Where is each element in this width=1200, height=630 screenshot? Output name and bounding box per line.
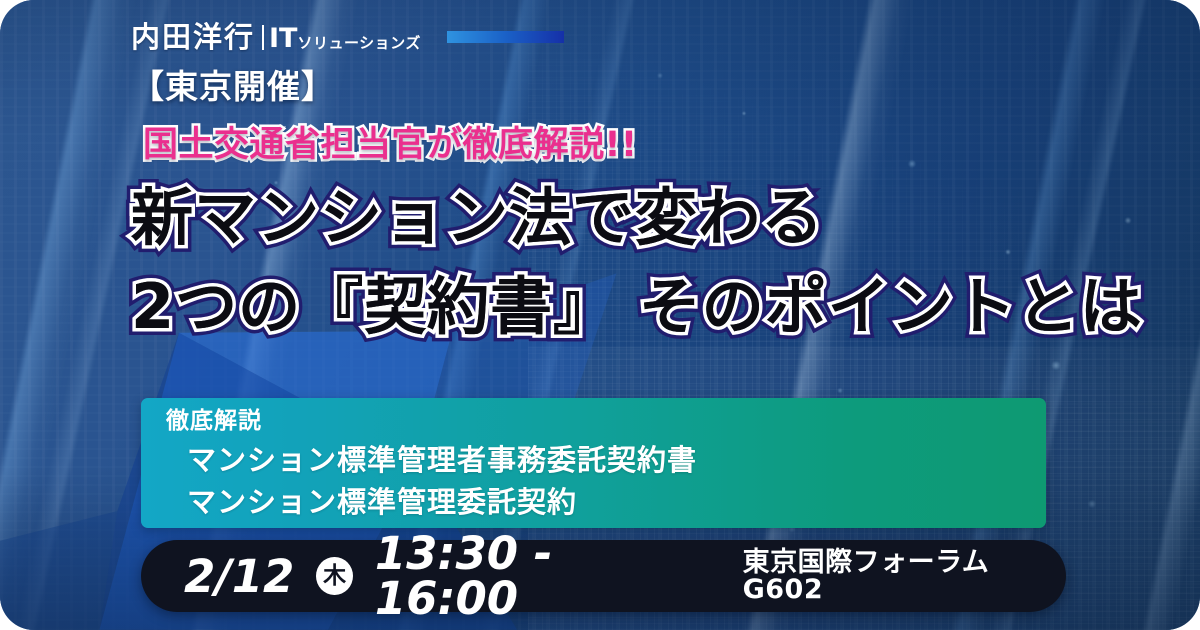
day-of-week-badge: 木 (316, 557, 352, 595)
event-time: 13:30 - 16:00 (375, 531, 698, 621)
logo-gradient-bar (447, 31, 564, 43)
title-line-2: 2つの『契約書』 そのポイントとは 2つの『契約書』 そのポイントとは 2つの『… (131, 274, 1091, 341)
topics-heading: 徹底解説 (166, 410, 262, 433)
eyebrow-location-label: 【東京開催】 (131, 70, 335, 103)
title-line-1-fill: 新マンション法で変わる (131, 185, 824, 252)
logo-wordmark: 内田洋行 IT ソリューションズ (131, 22, 421, 52)
logo-divider-icon (262, 25, 264, 50)
event-banner: 内田洋行 IT ソリューションズ 【東京開催】 国土交通省担当官が徹底解説!! … (0, 0, 1200, 630)
title-line-1: 新マンション法で変わる 新マンション法で変わる 新マンション法で変わる (131, 185, 1091, 252)
event-venue: 東京国際フォーラム G602 (743, 549, 1066, 603)
event-details-bar: 2/12 木 13:30 - 16:00 東京国際フォーラム G602 (141, 540, 1066, 612)
page-title: 新マンション法で変わる 新マンション法で変わる 新マンション法で変わる 2つの『… (131, 185, 1091, 341)
logo-kanji-text: 内田洋行 (131, 23, 255, 52)
logo-it-text: IT (269, 25, 297, 52)
logo-solutions-text: ソリューションズ (297, 36, 420, 51)
brand-logo: 内田洋行 IT ソリューションズ (131, 18, 564, 56)
topics-highlight-box: 徹底解説 マンション標準管理者事務委託契約書 マンション標準管理委託契約 (141, 398, 1046, 528)
event-date: 2/12 (184, 554, 294, 599)
topic-item-2: マンション標準管理委託契約 (187, 488, 577, 517)
subheadline: 国土交通省担当官が徹底解説!! (143, 128, 637, 163)
topic-item-1: マンション標準管理者事務委託契約書 (187, 446, 697, 475)
banner-card: 内田洋行 IT ソリューションズ 【東京開催】 国土交通省担当官が徹底解説!! … (0, 0, 1200, 630)
title-line-2-fill: 2つの『契約書』 そのポイントとは (131, 274, 1143, 341)
